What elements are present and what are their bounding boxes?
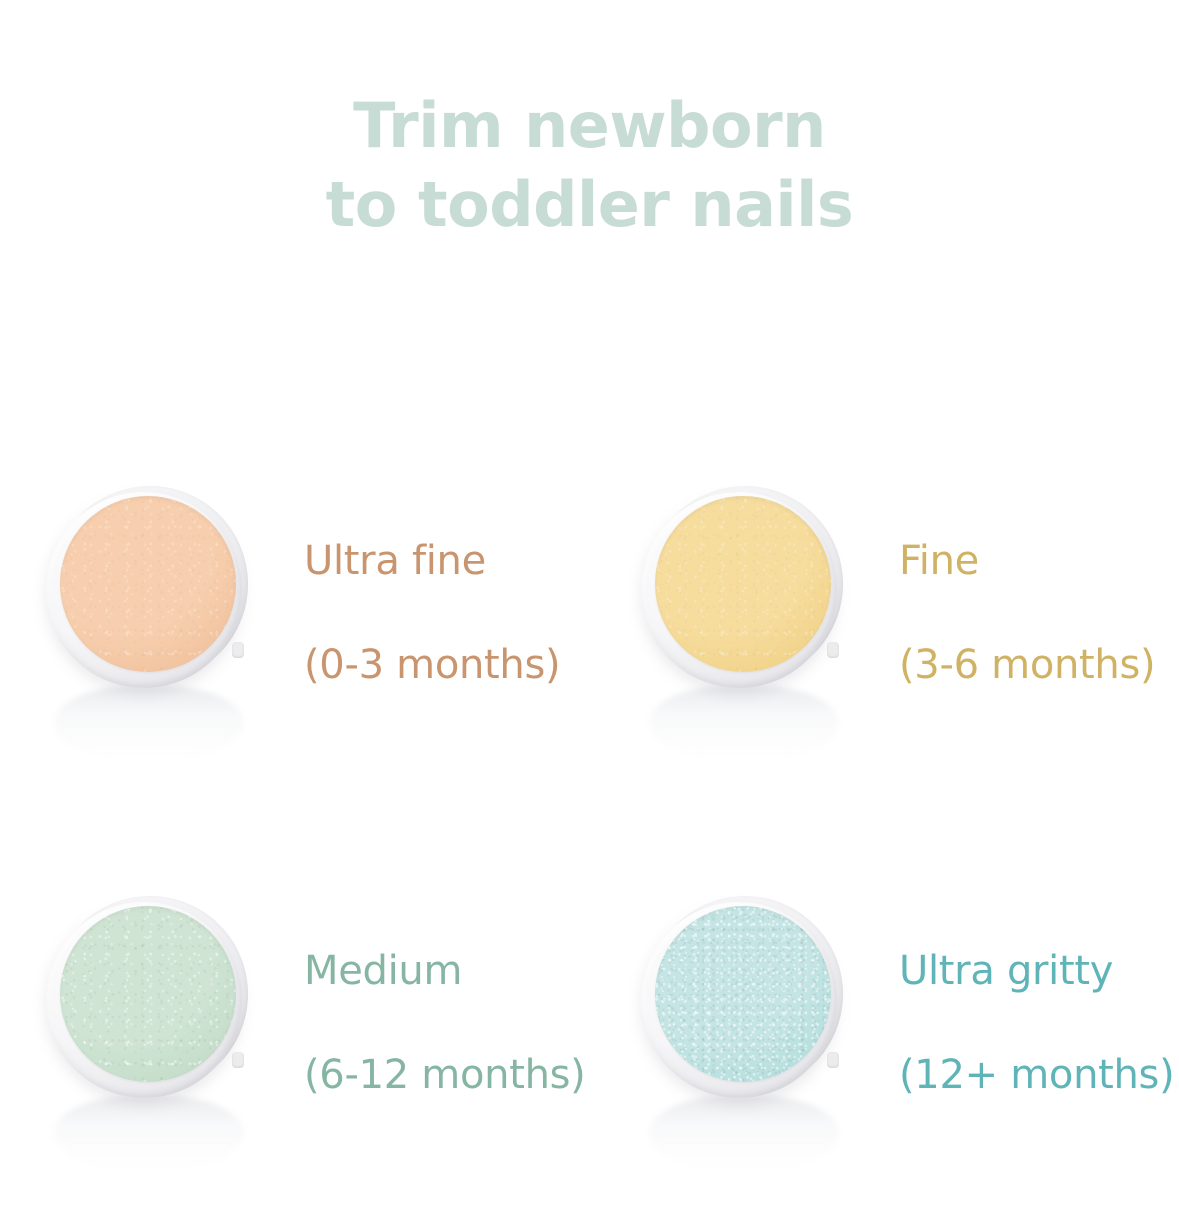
grit-label: Ultra fine (0-3 months)	[304, 483, 560, 757]
grit-label: Fine (3-6 months)	[899, 483, 1155, 757]
grit-pad-grid: Ultra fine (0-3 months) Fine (3-6 months…	[0, 440, 1179, 1160]
grit-item-ultra-fine: Ultra fine (0-3 months)	[0, 440, 590, 800]
grit-age-range: (12+ months)	[899, 1049, 1174, 1101]
grit-name: Fine	[899, 535, 1155, 587]
grit-age-range: (0-3 months)	[304, 639, 560, 691]
pad-reflection	[649, 1096, 839, 1170]
nail-file-pad-icon	[633, 880, 883, 1180]
grit-age-range: (3-6 months)	[899, 639, 1155, 691]
grit-item-ultra-gritty: Ultra gritty (12+ months)	[595, 850, 1179, 1210]
grit-item-medium: Medium (6-12 months)	[0, 850, 590, 1210]
grit-label: Ultra gritty (12+ months)	[899, 893, 1174, 1167]
nail-file-pad-icon	[38, 880, 288, 1180]
pad-tab-right	[827, 1052, 839, 1068]
pad-surface	[60, 496, 236, 672]
grit-name: Ultra gritty	[899, 945, 1174, 997]
pad-surface	[655, 496, 831, 672]
pad-reflection	[649, 686, 839, 760]
pad-tab-right	[827, 642, 839, 658]
nail-file-pad-icon	[38, 470, 288, 770]
grit-age-range: (6-12 months)	[304, 1049, 585, 1101]
pad-surface	[60, 906, 236, 1082]
pad-tab-right	[232, 642, 244, 658]
grit-item-fine: Fine (3-6 months)	[595, 440, 1179, 800]
page-title: Trim newborn to toddler nails	[0, 86, 1179, 245]
grit-name: Medium	[304, 945, 585, 997]
nail-file-pad-icon	[633, 470, 883, 770]
pad-tab-right	[232, 1052, 244, 1068]
grit-name: Ultra fine	[304, 535, 560, 587]
pad-surface	[655, 906, 831, 1082]
pad-reflection	[54, 1096, 244, 1170]
grit-label: Medium (6-12 months)	[304, 893, 585, 1167]
pad-reflection	[54, 686, 244, 760]
